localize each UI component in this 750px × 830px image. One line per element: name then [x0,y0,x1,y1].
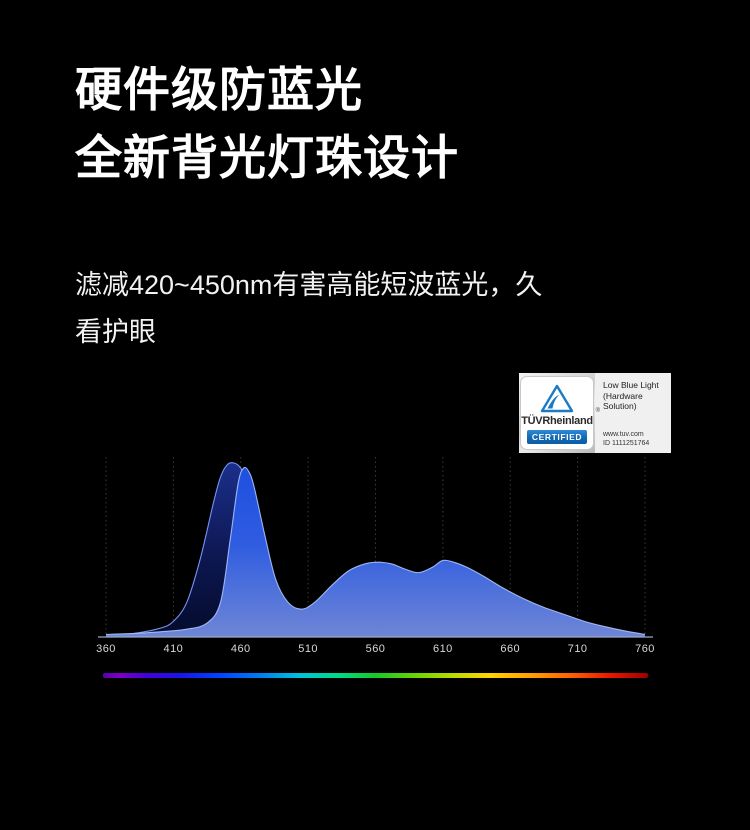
tuv-info-title-line-1: Low Blue Light [603,380,665,391]
tuv-info-title-line-3: Solution) [603,401,665,412]
chart-x-axis-tick-labels: 360410460510560610660710760 [0,643,750,661]
tuv-wordmark: TÜVRheinland ® [521,415,593,427]
tuv-info-meta: www.tuv.com ID 1111251764 [603,430,665,448]
headline: 硬件级防蓝光 全新背光灯珠设计 [75,56,715,192]
tuv-info-panel: Low Blue Light (Hardware Solution) www.t… [595,373,671,453]
tuv-wordmark-text: TÜVRheinland [521,415,593,427]
axis-tick-label: 410 [163,643,183,655]
axis-tick-label: 760 [635,643,655,655]
subtitle: 滤减420~450nm有害高能短波蓝光，久 看护眼 [75,262,683,356]
subtitle-line-2: 看护眼 [75,309,683,356]
chart-svg [0,455,750,655]
tuv-logo-tile: TÜVRheinland ® CERTIFIED [519,373,595,453]
headline-line-2: 全新背光灯珠设计 [75,124,715,192]
tuv-triangle-swoosh-icon [540,384,574,414]
tuv-certificate-id: ID 1111251764 [603,439,665,448]
axis-tick-label: 460 [231,643,251,655]
axis-tick-label: 360 [96,643,116,655]
spectral-power-distribution-chart [0,455,750,655]
registered-trademark-icon: ® [596,408,600,414]
axis-tick-label: 660 [500,643,520,655]
certified-banner: CERTIFIED [527,430,587,444]
axis-tick-label: 510 [298,643,318,655]
tuv-logo-inner: TÜVRheinland ® CERTIFIED [520,376,594,450]
tuv-info-title-line-2: (Hardware [603,391,665,402]
tuv-info-title: Low Blue Light (Hardware Solution) [603,380,665,412]
tuv-rheinland-certification-badge: TÜVRheinland ® CERTIFIED Low Blue Light … [519,373,671,453]
subtitle-line-1: 滤减420~450nm有害高能短波蓝光，久 [75,262,683,309]
axis-tick-label: 560 [366,643,386,655]
axis-tick-label: 710 [568,643,588,655]
visible-spectrum-gradient-bar [103,673,648,678]
axis-tick-label: 610 [433,643,453,655]
tuv-website: www.tuv.com [603,430,665,439]
headline-line-1: 硬件级防蓝光 [75,56,715,124]
